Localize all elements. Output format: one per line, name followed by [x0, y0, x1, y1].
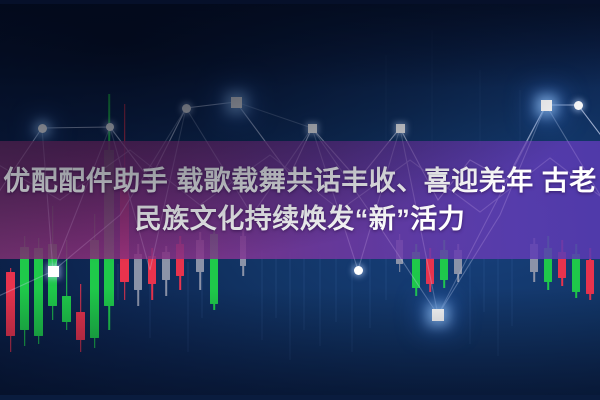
banner-image: 优配配件助手 载歌载舞共话丰收、喜迎羌年 古老 民族文化持续焕发“新”活力: [0, 0, 600, 400]
vignette-overlay: [0, 0, 600, 400]
top-edge-bar: [0, 0, 600, 4]
bottom-edge-bar: [0, 395, 600, 400]
